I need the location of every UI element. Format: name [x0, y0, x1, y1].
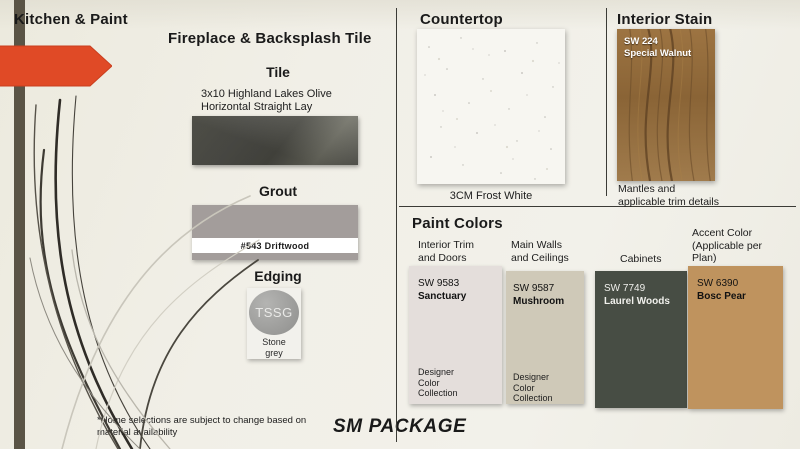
paint-code-mushroom-code: SW 9587: [513, 282, 564, 295]
edging-caption: Stone grey: [247, 337, 301, 359]
tile-swatch: [192, 116, 358, 165]
paint-code-bosc-pear-name: Bosc Pear: [697, 291, 746, 302]
paint-code-laurel-woods-name: Laurel Woods: [604, 296, 670, 307]
interior-stain-caption-line1: Mantles and: [618, 183, 798, 196]
paint-code-bosc-pear-code: SW 6390: [697, 277, 746, 290]
paint-note-sanctuary-line1: Designer: [418, 367, 458, 378]
interior-stain-name: Special Walnut: [624, 48, 691, 60]
paint-note-mushroom-line2: Color: [513, 383, 553, 394]
paint-use-label-0-line1: Interior Trim: [418, 239, 503, 252]
grout-heading: Grout: [196, 183, 360, 199]
interior-stain-label: SW 224 Special Walnut: [624, 36, 691, 60]
paint-note-mushroom: Designer Color Collection: [513, 372, 553, 404]
paint-code-laurel-woods-code: SW 7749: [604, 282, 670, 295]
paint-use-label-3-line1: Accent Color: [692, 227, 787, 240]
paint-use-label-3-line2: (Applicable per Plan): [692, 240, 787, 265]
grout-label: #543 Driftwood: [192, 238, 358, 253]
paint-code-bosc-pear: SW 6390 Bosc Pear: [697, 277, 746, 303]
paint-code-laurel-woods: SW 7749 Laurel Woods: [604, 282, 670, 308]
paint-code-mushroom-name: Mushroom: [513, 296, 564, 307]
edging-heading: Edging: [196, 268, 360, 284]
slide-board: Kitchen & Paint Fireplace & Backsplash T…: [0, 0, 800, 449]
paint-use-label-0-line2: and Doors: [418, 252, 503, 265]
paint-use-label-1: Main Walls and Ceilings: [511, 239, 596, 264]
tile-caption-line1: 3x10 Highland Lakes Olive: [201, 88, 376, 101]
edging-caption-line1: Stone: [247, 337, 301, 348]
paint-note-mushroom-line1: Designer: [513, 372, 553, 383]
edging-caption-line2: grey: [247, 348, 301, 359]
paint-code-sanctuary-name: Sanctuary: [418, 291, 466, 302]
tile-caption: 3x10 Highland Lakes Olive Horizontal Str…: [201, 88, 376, 114]
divider-vertical-left: [396, 8, 397, 442]
paint-code-mushroom: SW 9587 Mushroom: [513, 282, 564, 308]
paint-code-sanctuary-code: SW 9583: [418, 277, 466, 290]
tile-heading: Tile: [196, 64, 360, 80]
page-title: Kitchen & Paint: [14, 11, 128, 28]
countertop-speckle-texture: [417, 29, 565, 184]
paint-use-label-1-line1: Main Walls: [511, 239, 596, 252]
interior-stain-caption: Mantles and applicable trim details: [618, 183, 798, 209]
orange-arrow-banner: [0, 44, 112, 88]
countertop-swatch: [417, 29, 565, 184]
paint-note-sanctuary-line2: Color: [418, 378, 458, 389]
paint-note-sanctuary-line3: Collection: [418, 388, 458, 399]
paint-note-sanctuary: Designer Color Collection: [418, 367, 458, 399]
section-title-interior-stain: Interior Stain: [617, 11, 712, 28]
divider-vertical-right: [606, 8, 607, 196]
paint-code-sanctuary: SW 9583 Sanctuary: [418, 277, 466, 303]
interior-stain-code: SW 224: [624, 36, 691, 48]
section-title-fireplace: Fireplace & Backsplash Tile: [168, 30, 372, 47]
section-title-countertop: Countertop: [420, 11, 503, 28]
section-title-paint-colors: Paint Colors: [412, 215, 503, 232]
paint-use-label-3: Accent Color (Applicable per Plan): [692, 227, 787, 265]
package-title: SM PACKAGE: [333, 416, 466, 438]
interior-stain-caption-line2: applicable trim details: [618, 196, 798, 209]
tile-caption-line2: Horizontal Straight Lay: [201, 101, 376, 114]
footnote: *Home selections are subject to change b…: [97, 415, 327, 439]
paint-use-label-0: Interior Trim and Doors: [418, 239, 503, 264]
edging-badge: TSSG: [249, 290, 299, 335]
paint-note-mushroom-line3: Collection: [513, 393, 553, 404]
paint-use-label-1-line2: and Ceilings: [511, 252, 596, 265]
countertop-caption: 3CM Frost White: [417, 190, 565, 202]
